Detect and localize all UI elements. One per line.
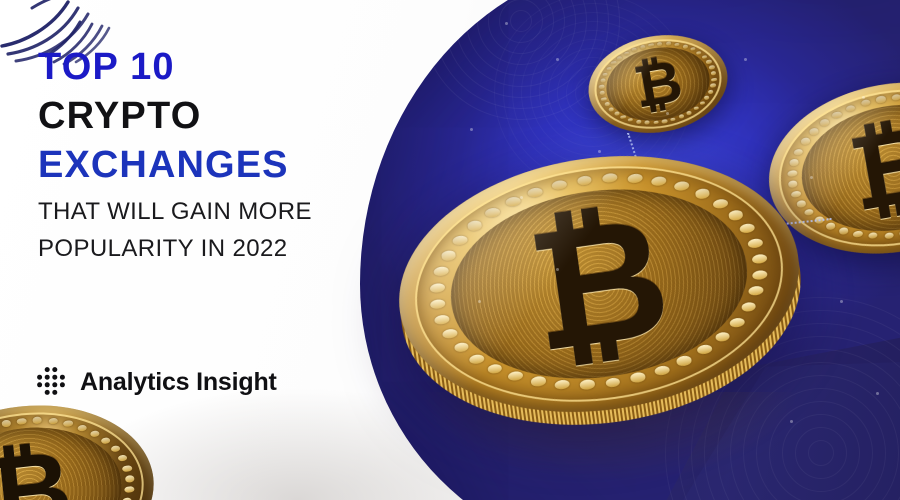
- sparkle-dot: [556, 58, 559, 61]
- headline-line-1: TOP 10: [38, 48, 408, 86]
- sparkle-dot: [810, 176, 813, 179]
- dot-grid-logo-icon: [36, 366, 68, 398]
- sparkle-dot: [556, 268, 559, 271]
- sparkle-dot: [598, 150, 601, 153]
- headline-line-4: THAT WILL GAIN MORE: [38, 200, 408, 224]
- bitcoin-coin-bottom-left: ₿: [0, 393, 162, 500]
- sparkle-dot: [790, 420, 793, 423]
- brand-logo[interactable]: Analytics Insight: [36, 366, 277, 398]
- sparkle-dot: [666, 112, 669, 115]
- headline-block: TOP 10 CRYPTO EXCHANGES THAT WILL GAIN M…: [38, 48, 408, 274]
- sparkle-dot: [876, 392, 879, 395]
- headline-line-5: POPULARITY IN 2022: [38, 237, 408, 261]
- sparkle-dot: [520, 196, 523, 199]
- banner-canvas: ₿ ₿ ₿ ₿: [0, 0, 900, 500]
- sparkle-dot: [478, 300, 481, 303]
- sparkle-dot: [862, 96, 865, 99]
- headline-line-2: CRYPTO: [38, 97, 408, 135]
- sparkle-dot: [470, 128, 473, 131]
- sparkle-dot: [840, 300, 843, 303]
- brand-logo-text: Analytics Insight: [80, 368, 277, 397]
- headline-line-3: EXCHANGES: [38, 146, 408, 184]
- sparkle-dot: [744, 58, 747, 61]
- sparkle-dot: [505, 22, 508, 25]
